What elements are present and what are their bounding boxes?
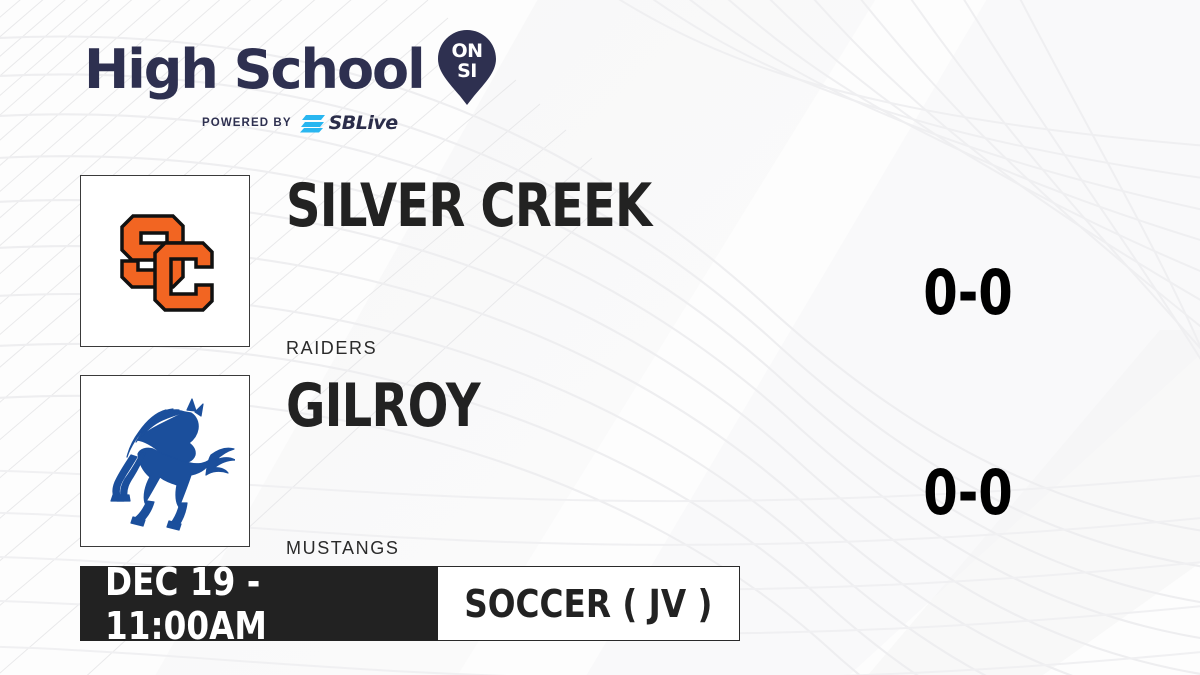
sblive-logo: SBLive: [300, 112, 398, 134]
brand-lockup: High School ON SI POWERED BY SBLive: [84, 34, 504, 134]
home-team-record: 0-0: [888, 462, 1048, 524]
game-datetime-text: DEC 19 - 11:00AM: [105, 560, 413, 648]
away-team-record: 0-0: [888, 262, 1048, 324]
gilroy-mustang-horse-icon: [95, 391, 235, 531]
svg-text:SI: SI: [457, 60, 477, 82]
game-datetime: DEC 19 - 11:00AM: [80, 566, 438, 641]
sblive-bold: SBL: [329, 112, 368, 134]
sblive-italic: ive: [367, 112, 397, 134]
away-team-mascot: RAIDERS: [286, 338, 377, 359]
game-info-banner: DEC 19 - 11:00AM SOCCER ( JV ): [80, 566, 740, 641]
sblive-wordmark: SBLive: [329, 112, 398, 134]
game-sport: SOCCER ( JV ): [438, 566, 740, 641]
powered-by-label: POWERED BY: [202, 117, 292, 129]
home-team-logo-box: [80, 375, 250, 547]
svg-text:ON: ON: [451, 40, 482, 62]
away-team-logo-box: [80, 175, 250, 347]
home-team-mascot: MUSTANGS: [286, 538, 399, 559]
away-team-name: SILVER CREEK: [286, 176, 651, 236]
sblive-s-mark-icon: [300, 113, 326, 133]
on-si-pin-icon: ON SI: [438, 30, 496, 106]
brand-wordmark: High School: [84, 43, 424, 97]
game-sport-text: SOCCER ( JV ): [464, 582, 712, 626]
silver-creek-sc-monogram-icon: [95, 191, 235, 331]
home-team-name: GILROY: [286, 376, 480, 436]
